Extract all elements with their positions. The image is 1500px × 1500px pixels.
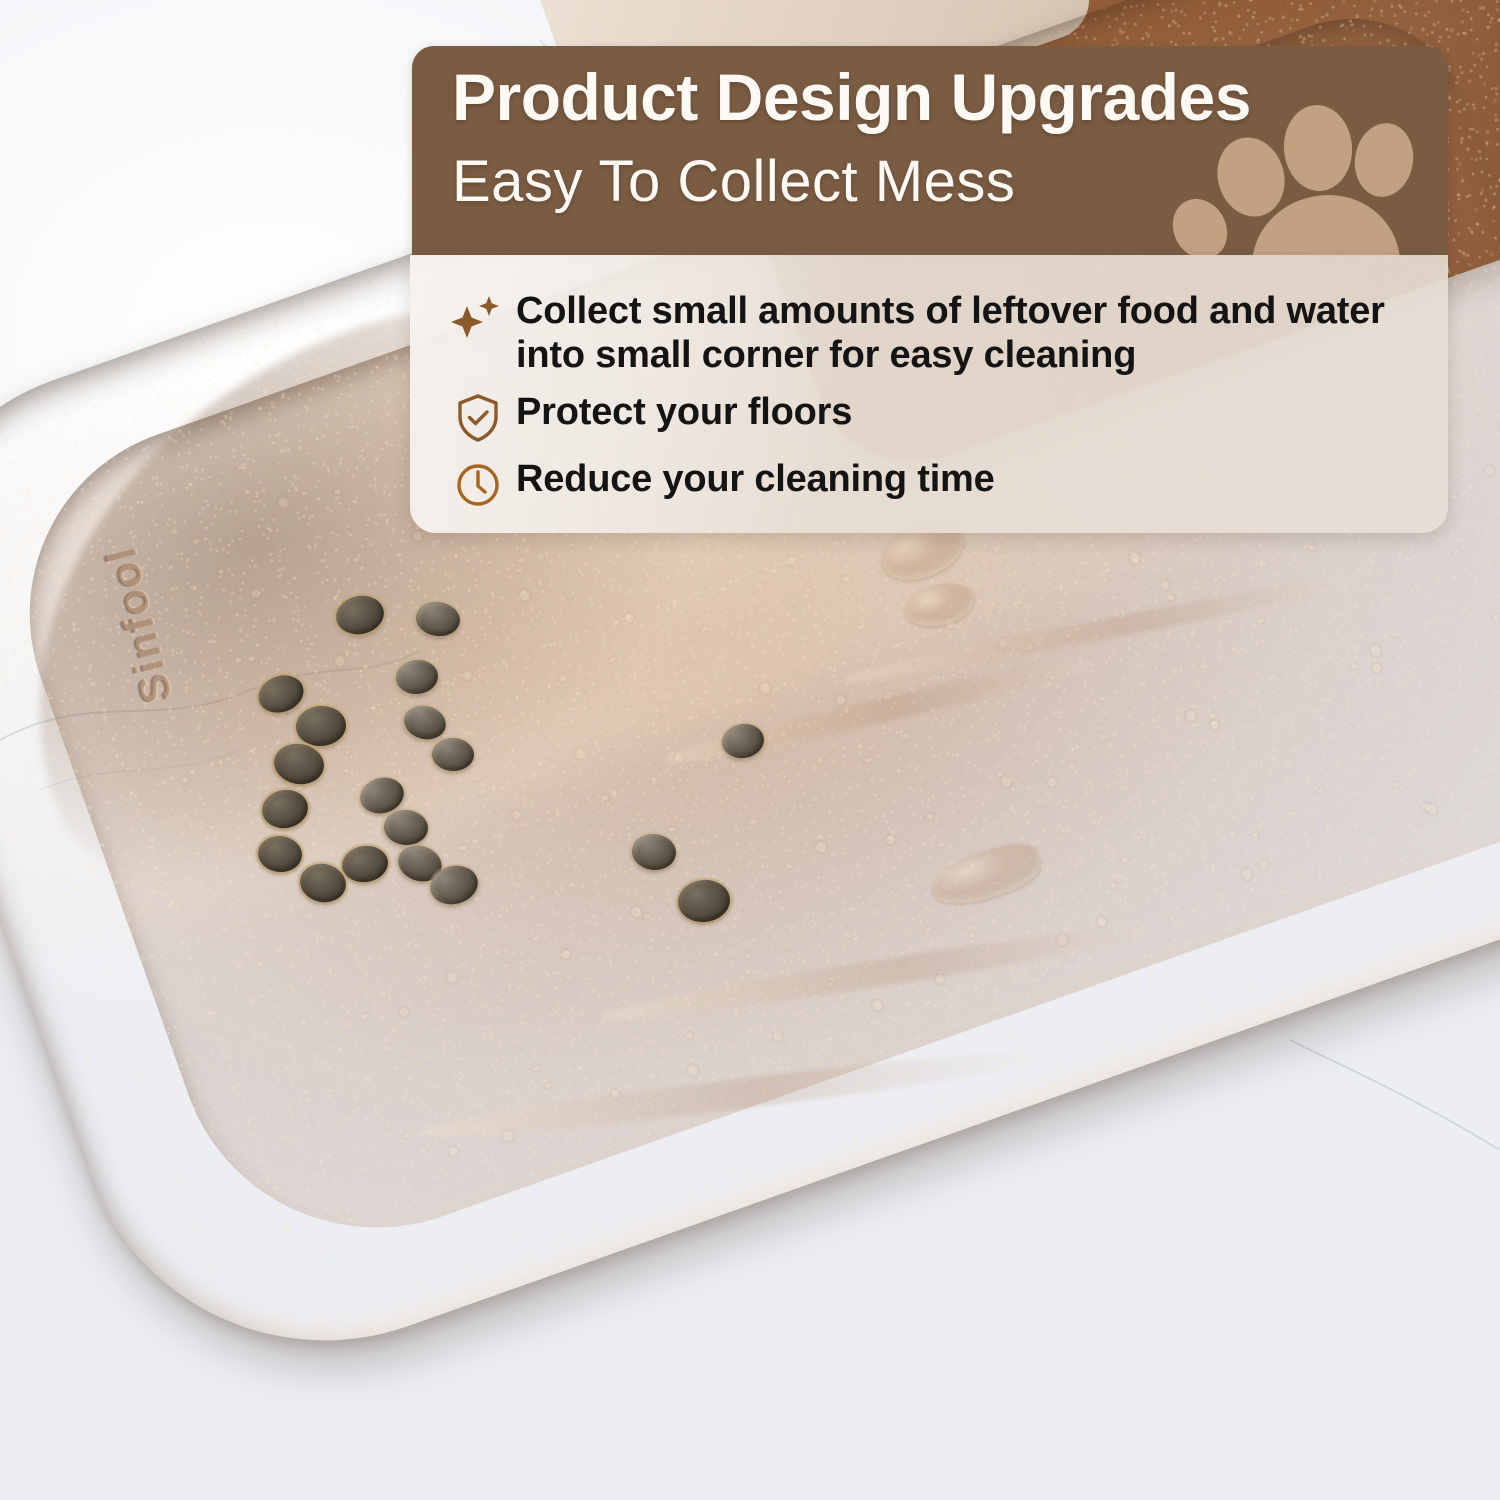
feature-text: Reduce your cleaning time <box>516 457 995 501</box>
feature-item: Collect small amounts of leftover food a… <box>450 289 1422 377</box>
product-marketing-image: Sinfool Product Design Upgrades Easy To … <box>0 0 1500 1500</box>
feature-item: Protect your floors <box>450 390 1422 444</box>
feature-item: Reduce your cleaning time <box>450 457 1422 511</box>
feature-text: Protect your floors <box>516 390 852 434</box>
sparkle-icon <box>450 295 506 347</box>
feature-text: Collect small amounts of leftover food a… <box>516 289 1422 377</box>
shield-check-icon <box>450 392 506 444</box>
feature-panel: Collect small amounts of leftover food a… <box>410 255 1448 533</box>
banner-subtitle: Easy To Collect Mess <box>452 150 1015 214</box>
clock-icon <box>450 459 506 511</box>
banner-title: Product Design Upgrades <box>452 62 1418 133</box>
feature-list: Collect small amounts of leftover food a… <box>410 255 1448 511</box>
header-banner: Product Design Upgrades Easy To Collect … <box>412 46 1448 255</box>
